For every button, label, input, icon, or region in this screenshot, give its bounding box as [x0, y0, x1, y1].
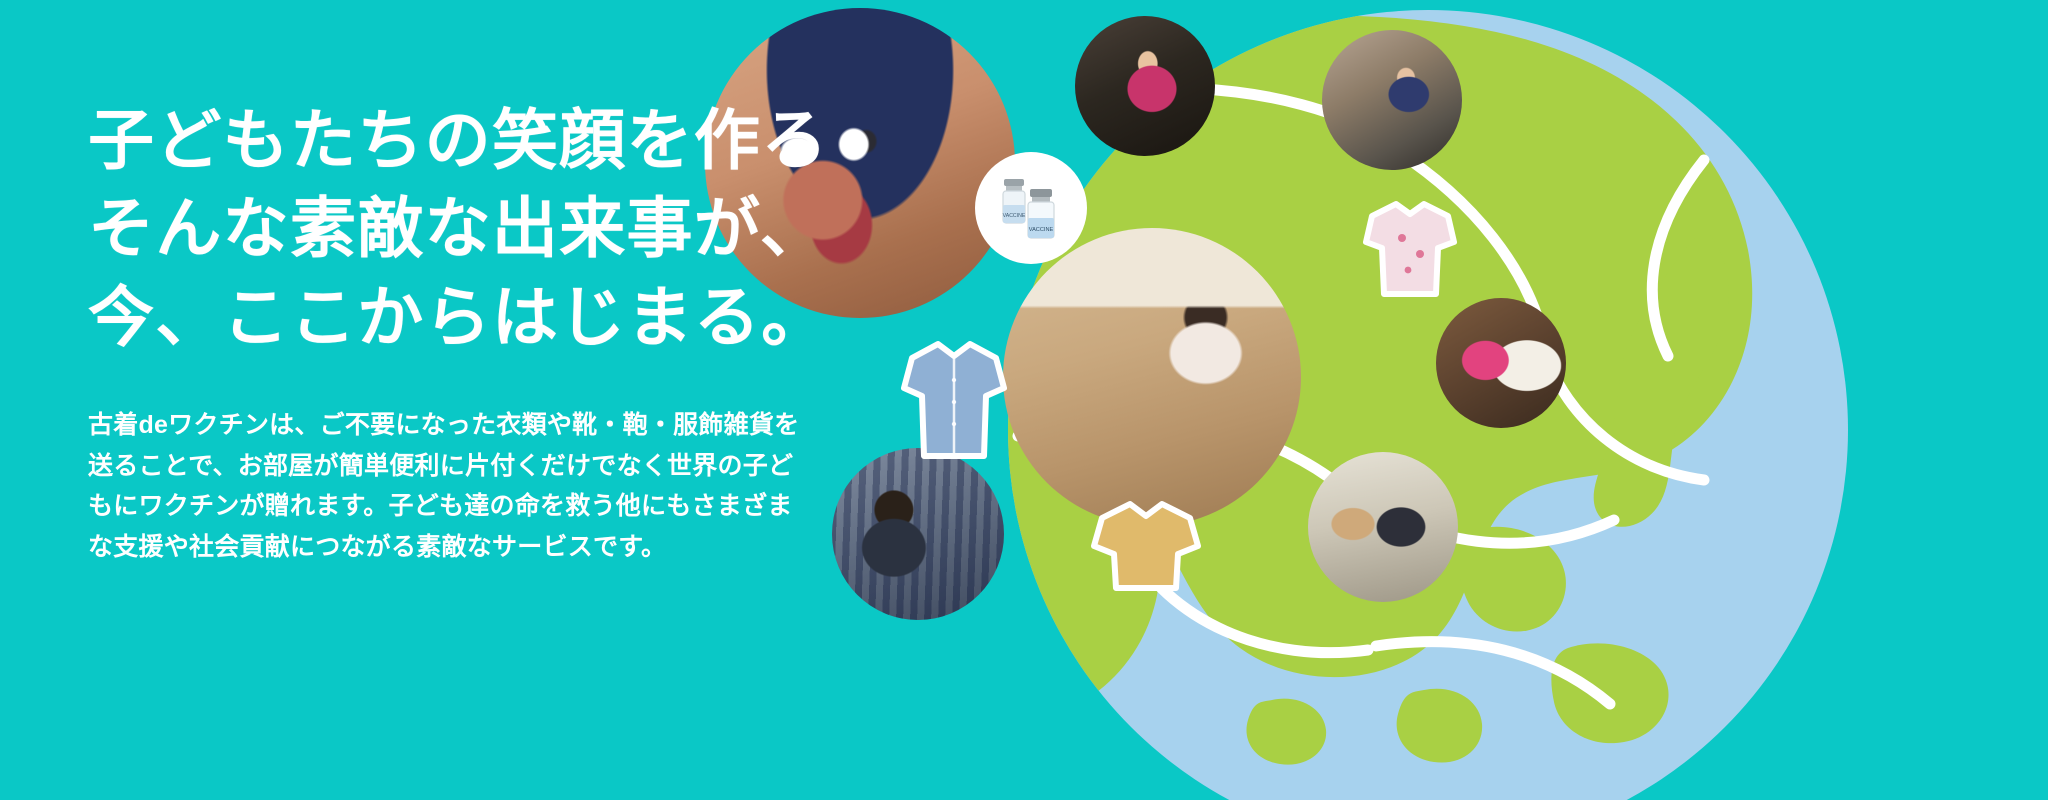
vaccine-vial-badge: VACCINE VACCINE	[975, 152, 1087, 264]
headline-line-2: そんな素敵な出来事が、	[88, 184, 968, 272]
description-line-4: な支援や社会貢献につながる素敵なサービスです。	[88, 527, 788, 568]
headline-line-3: 今、ここからはじまる。	[88, 273, 968, 361]
tan-shirt-icon	[1090, 498, 1202, 594]
vaccine-label-front: VACCINE	[1029, 227, 1054, 233]
hero-description: 古着deワクチンは、ご不要になった衣類や靴・鞄・服飾雑貨を 送ることで、お部屋が…	[88, 405, 788, 567]
photo-package-donation	[1003, 228, 1301, 526]
headline-line-1: 子どもたちの笑顔を作る	[88, 96, 968, 184]
page-title: 子どもたちの笑顔を作る そんな素敵な出来事が、 今、ここからはじまる。	[88, 96, 968, 361]
photo-doorway-delivery	[1436, 298, 1566, 428]
photo-truck-driver	[1075, 16, 1215, 156]
photo-forklift-operator	[1322, 30, 1462, 170]
hero-banner: VACCINE VACCINE	[0, 0, 2048, 800]
description-line-3: もにワクチンが贈れます。子ども達の命を救う他にもさまざま	[88, 486, 788, 527]
vaccine-label-back: VACCINE	[1003, 213, 1026, 219]
photo-workshop-table	[1308, 452, 1458, 602]
pink-kids-shirt-icon	[1362, 198, 1458, 302]
vaccine-vial-icon: VACCINE VACCINE	[992, 169, 1070, 247]
description-line-1: 古着deワクチンは、ご不要になった衣類や靴・鞄・服飾雑貨を	[88, 405, 788, 446]
description-line-2: 送ることで、お部屋が簡単便利に片付くだけでなく世界の子ど	[88, 446, 788, 487]
hero-copy: 子どもたちの笑顔を作る そんな素敵な出来事が、 今、ここからはじまる。 古着de…	[88, 96, 968, 567]
